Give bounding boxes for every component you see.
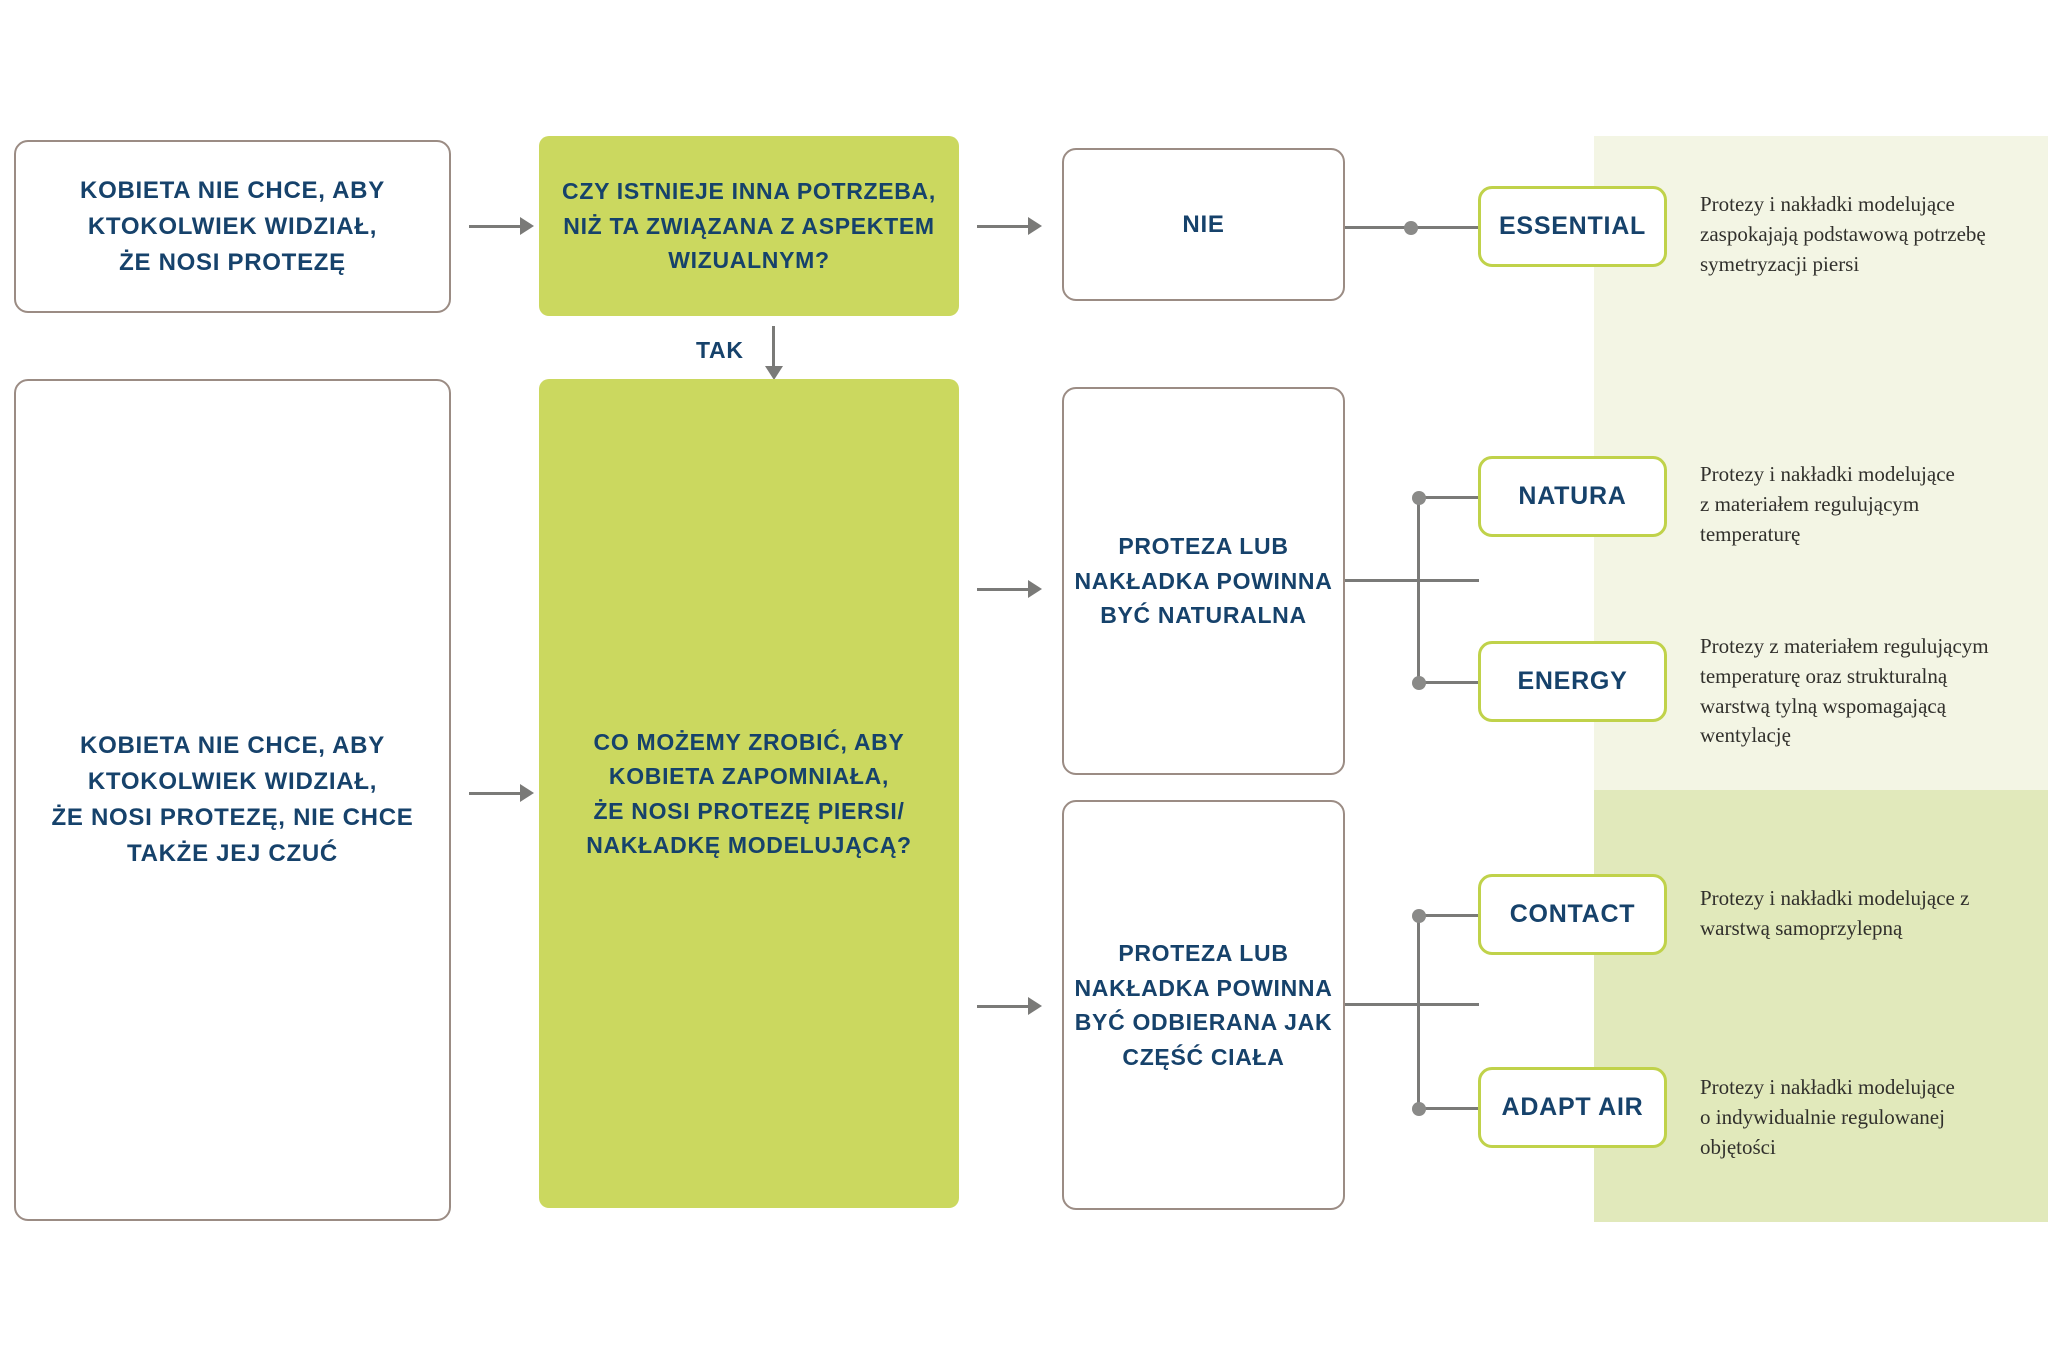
product-pill-natura[interactable]: NATURA [1478, 456, 1667, 537]
product-pill-contact[interactable]: CONTACT [1478, 874, 1667, 955]
node-outcome-body-label: PROTEZA LUB NAKŁADKA POWINNA BYĆ ODBIERA… [1074, 936, 1332, 1074]
arrow-head-body [1028, 997, 1042, 1015]
node-question-top-label: CZY ISTNIEJE INNA POTRZEBA, NIŻ TA ZWIĄZ… [562, 174, 936, 278]
connector-natural-trunk [1417, 497, 1420, 681]
product-description-adapt-air: Protezy i nakładki modelujące o indywidu… [1700, 1073, 2040, 1162]
product-name-adapt-air: ADAPT AIR [1502, 1089, 1644, 1127]
connector-dot-energy [1412, 676, 1426, 690]
product-name-essential: ESSENTIAL [1499, 208, 1646, 246]
product-pill-adapt-air[interactable]: ADAPT AIR [1478, 1067, 1667, 1148]
edge-label-yes: TAK [696, 337, 744, 364]
connector-natural-trunk-stem [1345, 579, 1479, 582]
connector-dot-natura [1412, 491, 1426, 505]
connector-body-trunk [1417, 915, 1420, 1109]
arrow-question-top-to-no [977, 225, 1028, 228]
node-outcome-natural-label: PROTEZA LUB NAKŁADKA POWINNA BYĆ NATURAL… [1074, 529, 1332, 633]
product-description-essential: Protezy i nakładki modelujące zaspokajaj… [1700, 190, 2040, 279]
product-pill-essential[interactable]: ESSENTIAL [1478, 186, 1667, 267]
node-outcome-body[interactable]: PROTEZA LUB NAKŁADKA POWINNA BYĆ ODBIERA… [1062, 800, 1345, 1210]
arrow-start-bottom-to-question [469, 792, 520, 795]
node-question-top[interactable]: CZY ISTNIEJE INNA POTRZEBA, NIŻ TA ZWIĄZ… [539, 136, 959, 316]
product-description-natura: Protezy i nakładki modelujące z materiał… [1700, 460, 2040, 549]
node-question-bottom-label: CO MOŻEMY ZROBIĆ, ABY KOBIETA ZAPOMNIAŁA… [586, 725, 912, 863]
arrow-head-start-top [520, 217, 534, 235]
arrow-head-no [1028, 217, 1042, 235]
node-answer-no-label: NIE [1182, 207, 1224, 243]
arrow-start-top-to-question [469, 225, 520, 228]
arrow-question-to-body [977, 1005, 1028, 1008]
connector-dot-adapt-air [1412, 1102, 1426, 1116]
product-name-natura: NATURA [1518, 478, 1626, 516]
arrow-head-yes [765, 366, 783, 380]
product-name-energy: ENERGY [1517, 663, 1627, 701]
node-start-top[interactable]: KOBIETA NIE CHCE, ABY KTOKOLWIEK WIDZIAŁ… [14, 140, 451, 313]
product-description-energy: Protezy z materiałem regulującym tempera… [1700, 632, 2048, 751]
node-start-top-label: KOBIETA NIE CHCE, ABY KTOKOLWIEK WIDZIAŁ… [80, 173, 385, 281]
node-outcome-natural[interactable]: PROTEZA LUB NAKŁADKA POWINNA BYĆ NATURAL… [1062, 387, 1345, 775]
arrow-head-start-bottom [520, 784, 534, 802]
product-pill-energy[interactable]: ENERGY [1478, 641, 1667, 722]
product-description-contact: Protezy i nakładki modelujące z warstwą … [1700, 884, 2048, 944]
flowchart-canvas: KOBIETA NIE CHCE, ABY KTOKOLWIEK WIDZIAŁ… [0, 0, 2048, 1365]
connector-dot-contact [1412, 909, 1426, 923]
node-start-bottom-label: KOBIETA NIE CHCE, ABY KTOKOLWIEK WIDZIAŁ… [51, 728, 413, 872]
connector-dot-essential [1404, 221, 1418, 235]
node-question-bottom[interactable]: CO MOŻEMY ZROBIĆ, ABY KOBIETA ZAPOMNIAŁA… [539, 379, 959, 1208]
node-answer-no[interactable]: NIE [1062, 148, 1345, 301]
connector-body-trunk-stem [1345, 1003, 1479, 1006]
node-start-bottom[interactable]: KOBIETA NIE CHCE, ABY KTOKOLWIEK WIDZIAŁ… [14, 379, 451, 1221]
arrow-head-natural [1028, 580, 1042, 598]
product-name-contact: CONTACT [1510, 896, 1636, 934]
arrow-question-to-natural [977, 588, 1028, 591]
